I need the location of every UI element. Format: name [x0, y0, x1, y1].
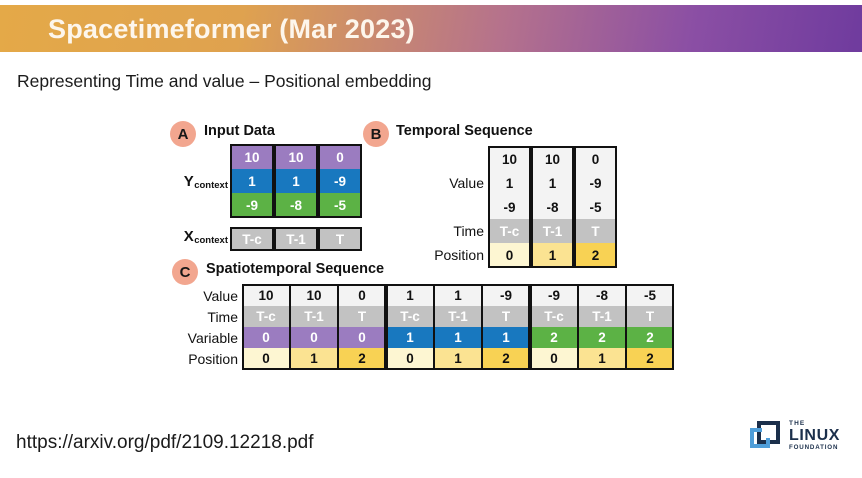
x-context-symbol: X	[184, 228, 194, 245]
panel-c-position-cell: 0	[387, 348, 433, 369]
panel-c-value-cell: 0	[339, 285, 385, 306]
panel-c-title: Spatiotemporal Sequence	[206, 261, 384, 277]
panel-c-time-cell: T-c	[243, 306, 289, 327]
panel-c-variable-cell: 2	[627, 327, 673, 348]
linux-foundation-logo: THE LINUX FOUNDATION	[748, 415, 852, 457]
panel-c-variable-cell: 1	[483, 327, 529, 348]
panel-c-row-label-variable: Variable	[150, 327, 238, 348]
panel-b-row-label-position: Position	[400, 243, 484, 267]
linux-foundation-mark-icon	[748, 419, 782, 453]
panel-c-time-cell: T	[627, 306, 673, 327]
panel-b-value-cell: -9	[489, 195, 530, 219]
panel-b-time-cell: T	[575, 219, 616, 243]
panel-c-row-label-position: Position	[150, 348, 238, 369]
panel-c-row-label-value: Value	[150, 285, 238, 306]
source-url[interactable]: https://arxiv.org/pdf/2109.12218.pdf	[16, 432, 314, 454]
panel-a-y-cell: 10	[275, 145, 317, 169]
panel-c-time-cell: T-c	[531, 306, 577, 327]
panel-a-y-cell: 1	[275, 169, 317, 193]
panel-c-col-separator	[577, 284, 579, 370]
panel-b-position-cell: 0	[489, 243, 530, 267]
panel-a-title: Input Data	[204, 123, 275, 139]
panel-c-col-separator	[625, 284, 627, 370]
panel-c-value-cell: 1	[435, 285, 481, 306]
x-context-label: Xcontext	[168, 228, 228, 245]
panel-c-value-cell: 1	[387, 285, 433, 306]
panel-c-position-cell: 0	[243, 348, 289, 369]
panel-c-value-cell: 10	[243, 285, 289, 306]
panel-b-time-cell: T-c	[489, 219, 530, 243]
panel-a-y-cell: -9	[319, 169, 361, 193]
y-context-subscript: context	[194, 180, 228, 191]
panel-a-y-cell: -8	[275, 193, 317, 217]
y-context-symbol: Y	[184, 173, 194, 190]
panel-b-row-label-time: Time	[400, 219, 484, 243]
panel-b-value-cell: 10	[532, 147, 573, 171]
panel-c-time-cell: T-c	[387, 306, 433, 327]
panel-b-value-cell: -9	[575, 171, 616, 195]
panel-b-row-label-value: Value	[400, 171, 484, 195]
panel-c-col-separator	[337, 284, 339, 370]
panel-c-col-separator	[481, 284, 483, 370]
panel-c-position-cell: 0	[531, 348, 577, 369]
y-context-label: Ycontext	[168, 173, 228, 190]
panel-b-value-cell: 0	[575, 147, 616, 171]
panel-b-time-cell: T-1	[532, 219, 573, 243]
x-context-subscript: context	[194, 235, 228, 246]
panel-c-position-cell: 2	[627, 348, 673, 369]
panel-c-value-cell: -5	[627, 285, 673, 306]
panel-c-time-cell: T	[483, 306, 529, 327]
panel-a-y-cell: -9	[231, 193, 273, 217]
panel-a-badge: A	[170, 121, 196, 147]
panel-c-value-cell: -9	[483, 285, 529, 306]
panel-a-y-cell: 0	[319, 145, 361, 169]
panel-b-title: Temporal Sequence	[396, 123, 533, 139]
panel-c-position-cell: 1	[435, 348, 481, 369]
panel-c-value-cell: 10	[291, 285, 337, 306]
panel-c-time-cell: T-1	[291, 306, 337, 327]
panel-a-x-cell: T-1	[275, 228, 317, 250]
panel-c-variable-cell: 0	[243, 327, 289, 348]
slide-subtitle: Representing Time and value – Positional…	[17, 71, 431, 92]
panel-b-position-cell: 1	[532, 243, 573, 267]
panel-c-variable-cell: 0	[291, 327, 337, 348]
panel-b-value-cell: 1	[532, 171, 573, 195]
panel-c-position-cell: 2	[339, 348, 385, 369]
lf-foundation-text: FOUNDATION	[789, 445, 840, 451]
panel-b-value-cell: 1	[489, 171, 530, 195]
panel-c-position-cell: 1	[579, 348, 625, 369]
panel-c-value-cell: -8	[579, 285, 625, 306]
panel-a-x-cell: T-c	[231, 228, 273, 250]
panel-c-time-cell: T	[339, 306, 385, 327]
panel-c-badge: C	[172, 259, 198, 285]
panel-c-row-label-time: Time	[150, 306, 238, 327]
panel-a-y-cell: 1	[231, 169, 273, 193]
panel-a-x-cell: T	[319, 228, 361, 250]
panel-c-variable-cell: 1	[387, 327, 433, 348]
panel-b-badge: B	[363, 121, 389, 147]
panel-c-col-separator	[289, 284, 291, 370]
panel-b-value-cell: -5	[575, 195, 616, 219]
panel-c-position-cell: 2	[483, 348, 529, 369]
panel-c-value-cell: -9	[531, 285, 577, 306]
panel-b-position-cell: 2	[575, 243, 616, 267]
panel-c-time-cell: T-1	[579, 306, 625, 327]
panel-c-variable-cell: 0	[339, 327, 385, 348]
title-banner: Spacetimeformer (Mar 2023)	[0, 5, 862, 52]
lf-linux-text: LINUX	[789, 428, 840, 444]
panel-c-position-cell: 1	[291, 348, 337, 369]
panel-b-value-cell: 10	[489, 147, 530, 171]
linux-foundation-wordmark: THE LINUX FOUNDATION	[789, 421, 840, 452]
page-title: Spacetimeformer (Mar 2023)	[48, 14, 415, 45]
panel-c-variable-cell: 2	[579, 327, 625, 348]
panel-a-y-cell: -5	[319, 193, 361, 217]
panel-c-col-separator	[433, 284, 435, 370]
panel-a-y-cell: 10	[231, 145, 273, 169]
panel-c-variable-cell: 1	[435, 327, 481, 348]
panel-c-variable-cell: 2	[531, 327, 577, 348]
panel-b-value-cell: -8	[532, 195, 573, 219]
panel-c-time-cell: T-1	[435, 306, 481, 327]
